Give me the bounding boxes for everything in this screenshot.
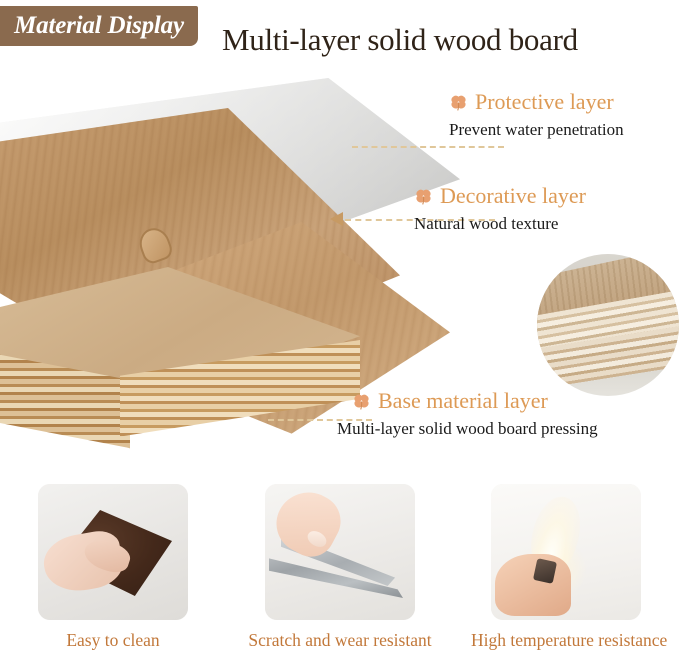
clover-icon (414, 187, 433, 206)
callout-base-material-layer: Base material layer Multi-layer solid wo… (352, 388, 598, 439)
callout-decorative-title: Decorative layer (440, 183, 586, 209)
feature-scratch-resistant: Scratch and wear resistant (245, 484, 435, 651)
blade-scratching-surface-photo (265, 484, 415, 620)
callout-decorative-layer: Decorative layer Natural wood texture (414, 183, 586, 234)
leader-line-protective (352, 146, 504, 148)
leader-arrow-decorative (330, 212, 343, 226)
feature-high-temperature: High temperature resistance (471, 484, 661, 651)
callout-protective-subtitle: Prevent water penetration (449, 120, 624, 140)
callout-protective-layer: Protective layer Prevent water penetrati… (449, 89, 624, 140)
callout-protective-title-row: Protective layer (449, 89, 624, 115)
feature-caption: Easy to clean (18, 630, 208, 651)
feature-easy-to-clean: Easy to clean (18, 484, 208, 651)
feature-caption: Scratch and wear resistant (245, 630, 435, 651)
material-display-badge-label: Material Display (14, 12, 184, 40)
clover-icon (449, 93, 468, 112)
callout-protective-title: Protective layer (475, 89, 614, 115)
callout-base-subtitle: Multi-layer solid wood board pressing (337, 419, 598, 439)
stacked-plywood-inset-photo (537, 254, 679, 396)
hand-wiping-with-cloth-photo (38, 484, 188, 620)
material-display-badge: Material Display (0, 6, 198, 46)
clover-icon (352, 392, 371, 411)
lighter-flame-on-surface-photo (491, 484, 641, 620)
callout-decorative-subtitle: Natural wood texture (414, 214, 586, 234)
callout-base-title: Base material layer (378, 388, 548, 414)
callout-base-title-row: Base material layer (352, 388, 598, 414)
feature-panels: Easy to clean Scratch and wear resistant… (0, 484, 679, 669)
page-title: Multi-layer solid wood board (222, 22, 578, 58)
callout-decorative-title-row: Decorative layer (414, 183, 586, 209)
feature-caption: High temperature resistance (471, 630, 661, 651)
hand (495, 554, 571, 616)
